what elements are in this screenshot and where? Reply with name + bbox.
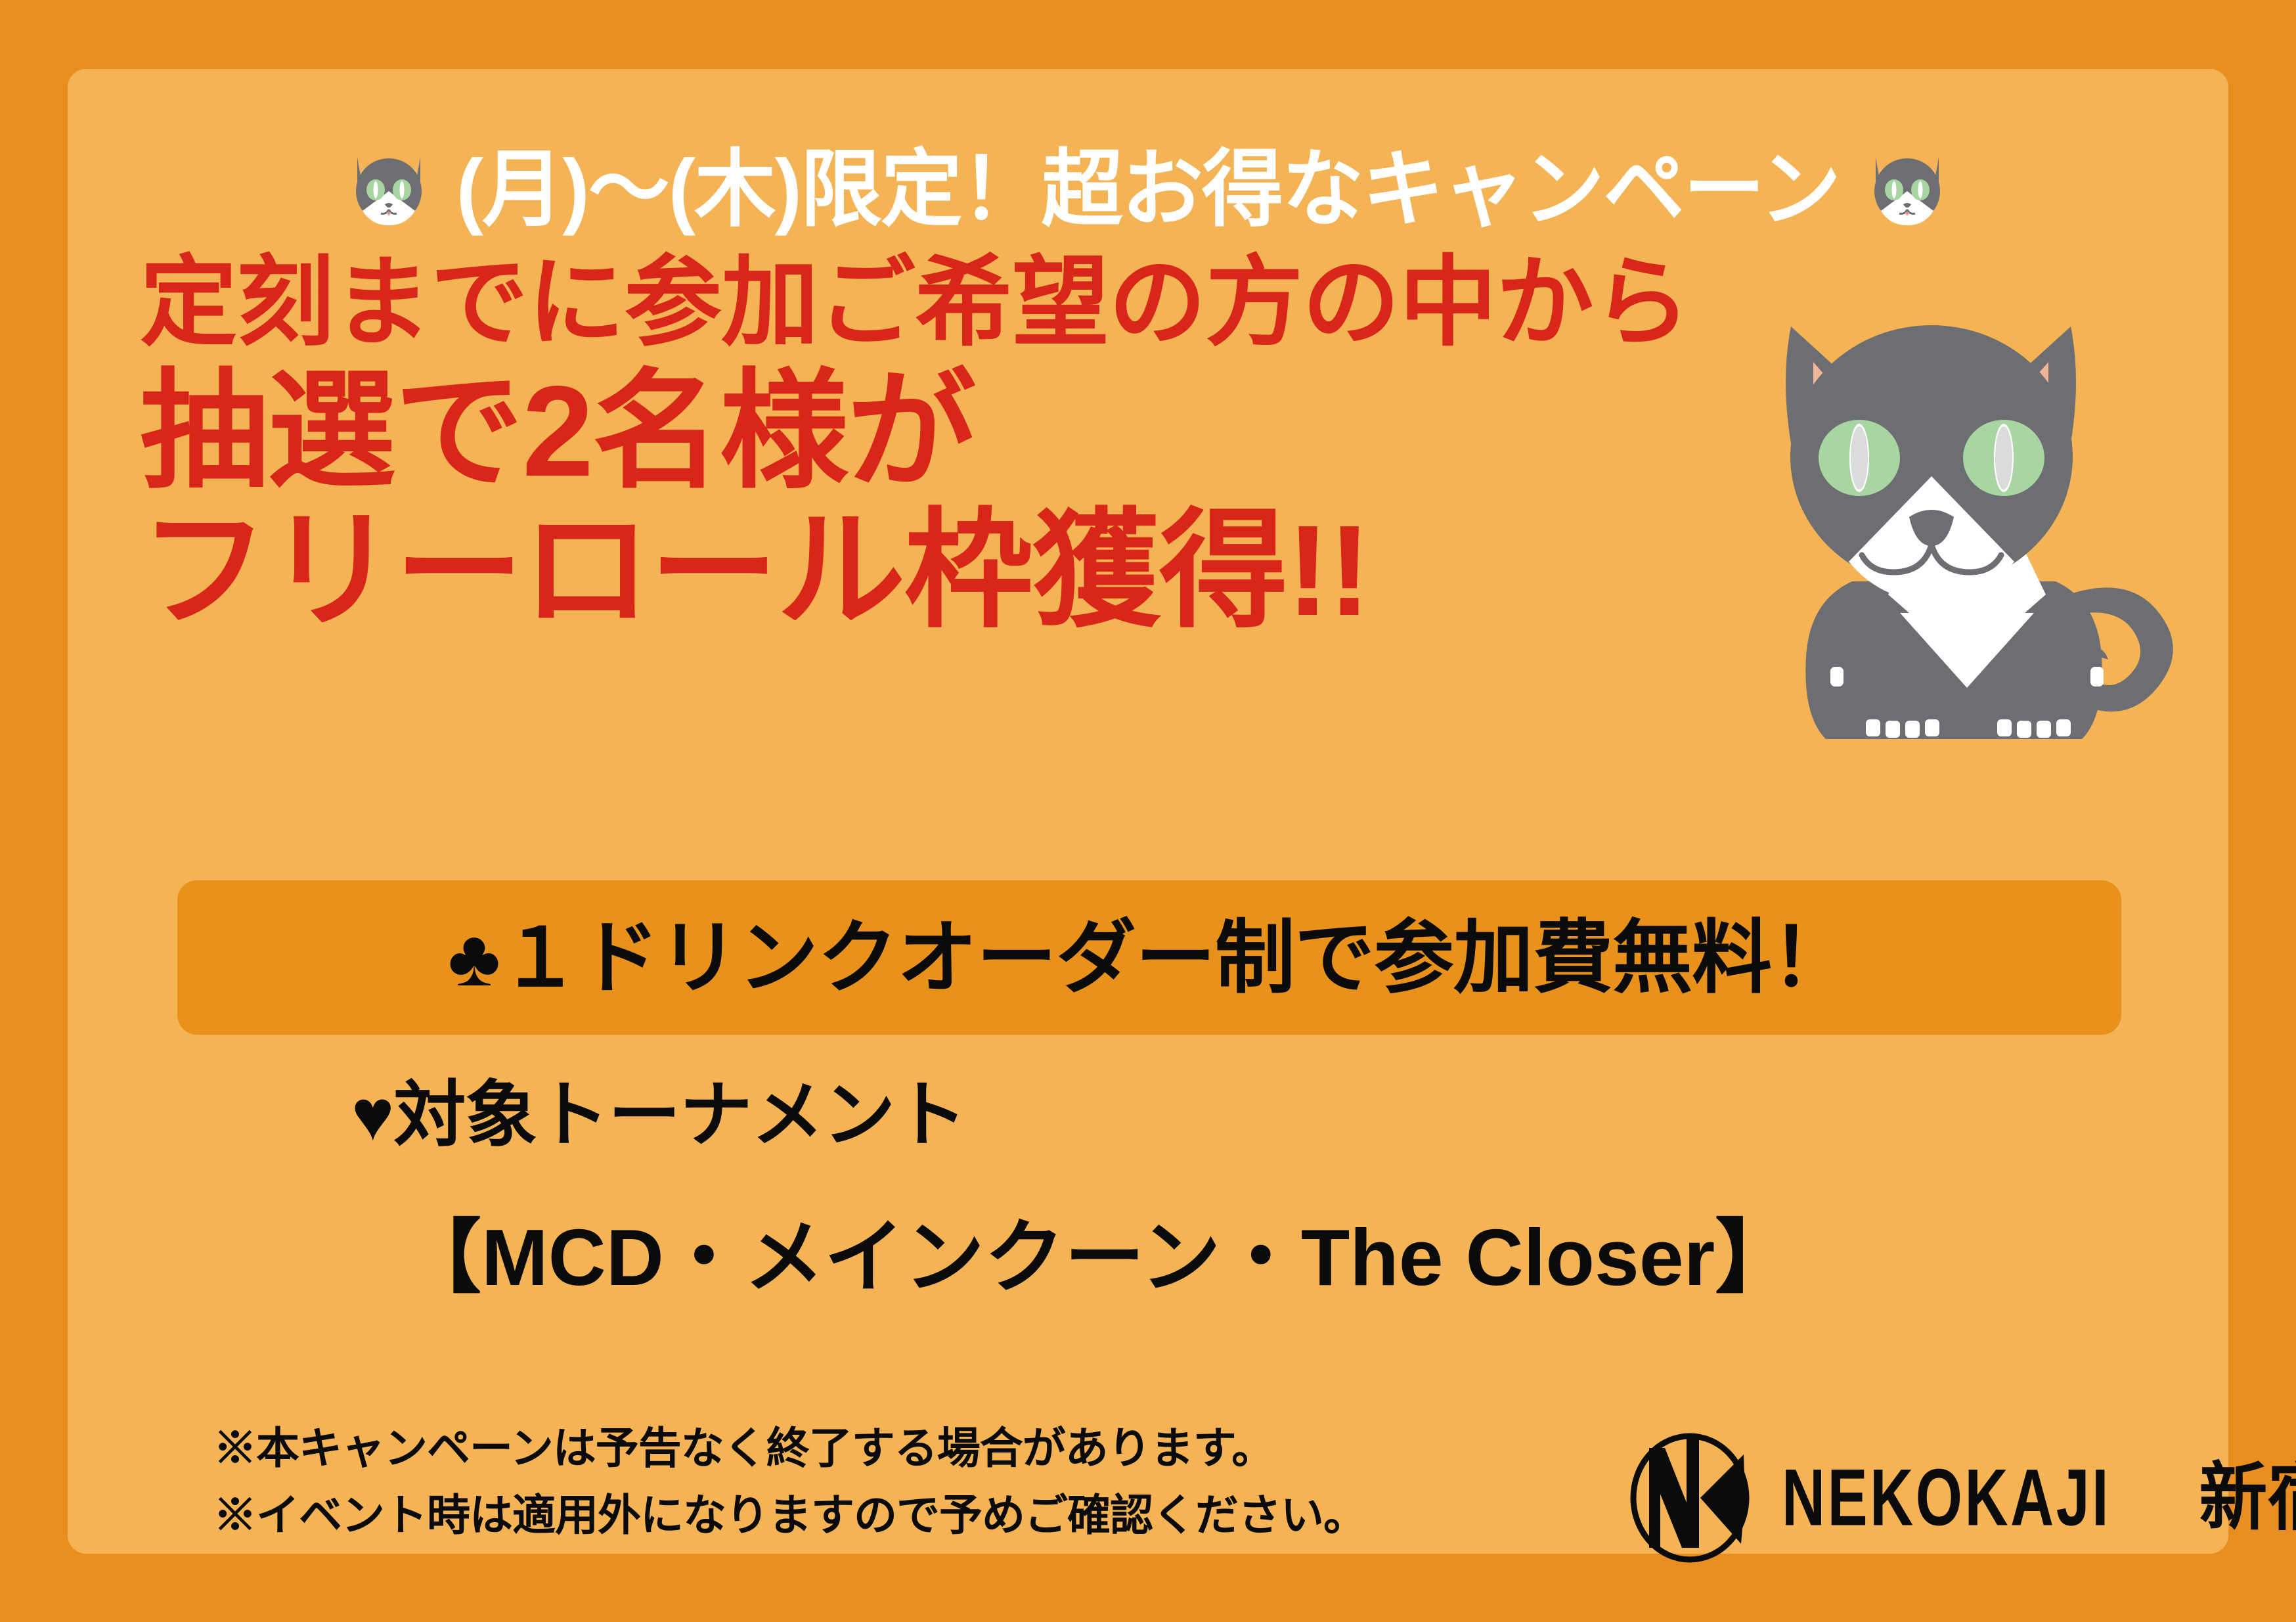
headline-line-3: フリーロール枠獲得!! bbox=[140, 507, 1913, 635]
drink-order-text: ♣１ドリンクオーダー制で参加費無料！ bbox=[448, 918, 1851, 998]
brand-lockup: NEKOKAJI 新宿 bbox=[1624, 1432, 2296, 1564]
note-line-1: ※本キャンペーンは予告なく終了する場合があります。 bbox=[213, 1414, 1366, 1481]
poster-card: (月)〜(木)限定！超お得なキャンペーン bbox=[68, 69, 2228, 1554]
cat-head-icon bbox=[343, 150, 435, 229]
promo-poster: (月)〜(木)限定！超お得なキャンペーン bbox=[0, 0, 2296, 1622]
header-title: (月)〜(木)限定！超お得なキャンペーン bbox=[456, 148, 1840, 232]
brand-city: 新宿 bbox=[2199, 1461, 2296, 1535]
target-tournament-heading: ♥対象トーナメント bbox=[351, 1079, 966, 1152]
headline-line-1: 定刻までに参加ご希望の方の中から bbox=[140, 253, 1895, 351]
brand-name: NEKOKAJI bbox=[1782, 1458, 2111, 1539]
nk-monogram-logo bbox=[1624, 1432, 1755, 1564]
headline-block: 定刻までに参加ご希望の方の中から 抽選で2名様が フリーロール枠獲得!! bbox=[140, 253, 1913, 635]
target-tournament-list: 【MCD・メインクーン・The Closer】 bbox=[401, 1217, 1795, 1297]
drink-order-banner: ♣１ドリンクオーダー制で参加費無料！ bbox=[177, 880, 2121, 1035]
cat-head-icon bbox=[1861, 150, 1953, 229]
notes-block: ※本キャンペーンは予告なく終了する場合があります。 ※イベント時は適用外になりま… bbox=[213, 1414, 1366, 1549]
sitting-cat-mascot bbox=[1737, 286, 2197, 746]
header-row: (月)〜(木)限定！超お得なキャンペーン bbox=[68, 148, 2228, 232]
headline-line-2: 抽選で2名様が bbox=[140, 367, 1913, 496]
note-line-2: ※イベント時は適用外になりますので予めご確認ください。 bbox=[213, 1481, 1366, 1548]
